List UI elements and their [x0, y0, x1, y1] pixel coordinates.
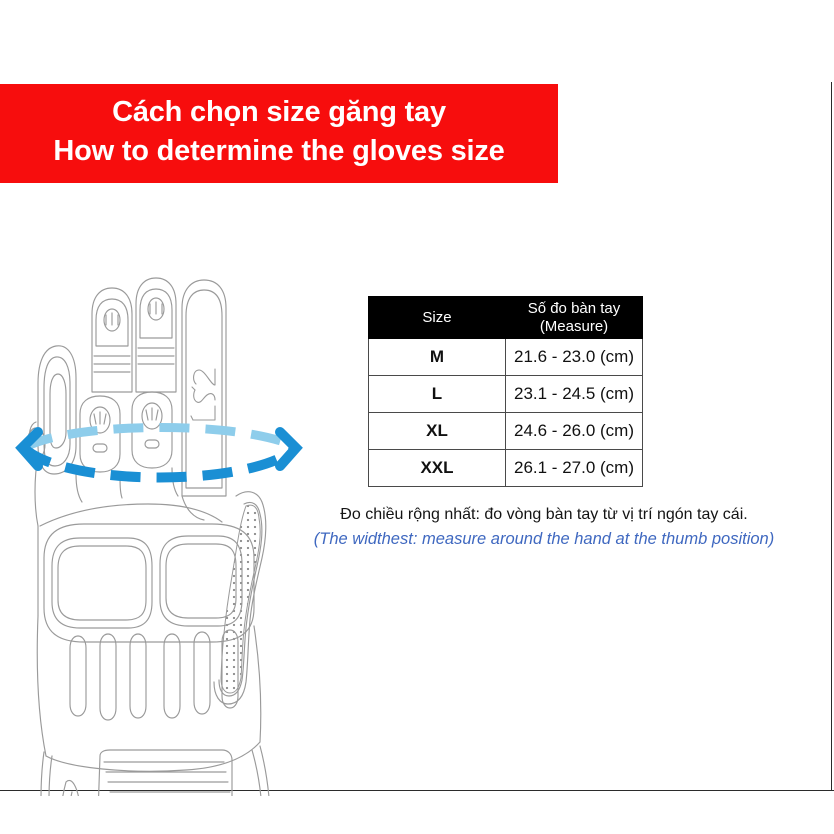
cell-measure: 26.1 - 27.0 (cm)	[506, 450, 643, 487]
size-chart-table: Size Số đo bàn tay (Measure) M 21.6 - 23…	[368, 296, 643, 487]
table-row: XXL 26.1 - 27.0 (cm)	[369, 450, 643, 487]
cell-size: L	[369, 376, 506, 413]
column-header-size: Size	[369, 297, 506, 339]
glove-size-chart-page: Cách chọn size găng tay How to determine…	[0, 0, 834, 834]
table-row: M 21.6 - 23.0 (cm)	[369, 339, 643, 376]
glove-outline-group	[27, 278, 271, 796]
table-header-row: Size Số đo bàn tay (Measure)	[369, 297, 643, 339]
banner-title-vietnamese: Cách chọn size găng tay	[112, 93, 446, 131]
column-header-measure-main: Số đo bàn tay	[528, 300, 621, 317]
cell-measure: 21.6 - 23.0 (cm)	[506, 339, 643, 376]
cell-size: XL	[369, 413, 506, 450]
table-header: Size Số đo bàn tay (Measure)	[369, 297, 643, 339]
banner-title-english: How to determine the gloves size	[53, 132, 504, 170]
measure-band-group	[24, 427, 294, 477]
instruction-vietnamese: Đo chiều rộng nhất: đo vòng bàn tay từ v…	[284, 503, 804, 527]
measurement-instructions: Đo chiều rộng nhất: đo vòng bàn tay từ v…	[284, 503, 804, 552]
page-border-right	[831, 82, 832, 791]
glove-illustration	[8, 196, 328, 796]
table-row: XL 24.6 - 26.0 (cm)	[369, 413, 643, 450]
cell-size: XXL	[369, 450, 506, 487]
cell-measure: 23.1 - 24.5 (cm)	[506, 376, 643, 413]
column-header-measure: Số đo bàn tay (Measure)	[506, 297, 643, 339]
title-banner: Cách chọn size găng tay How to determine…	[0, 84, 558, 183]
glove-drawing-svg	[8, 196, 328, 796]
instruction-english: (The widthest: measure around the hand a…	[284, 527, 804, 552]
table-row: L 23.1 - 24.5 (cm)	[369, 376, 643, 413]
cell-size: M	[369, 339, 506, 376]
brand-logo-ls2	[191, 369, 215, 420]
table-body: M 21.6 - 23.0 (cm) L 23.1 - 24.5 (cm) XL…	[369, 339, 643, 487]
cell-measure: 24.6 - 26.0 (cm)	[506, 413, 643, 450]
column-header-measure-sub: (Measure)	[506, 318, 642, 336]
